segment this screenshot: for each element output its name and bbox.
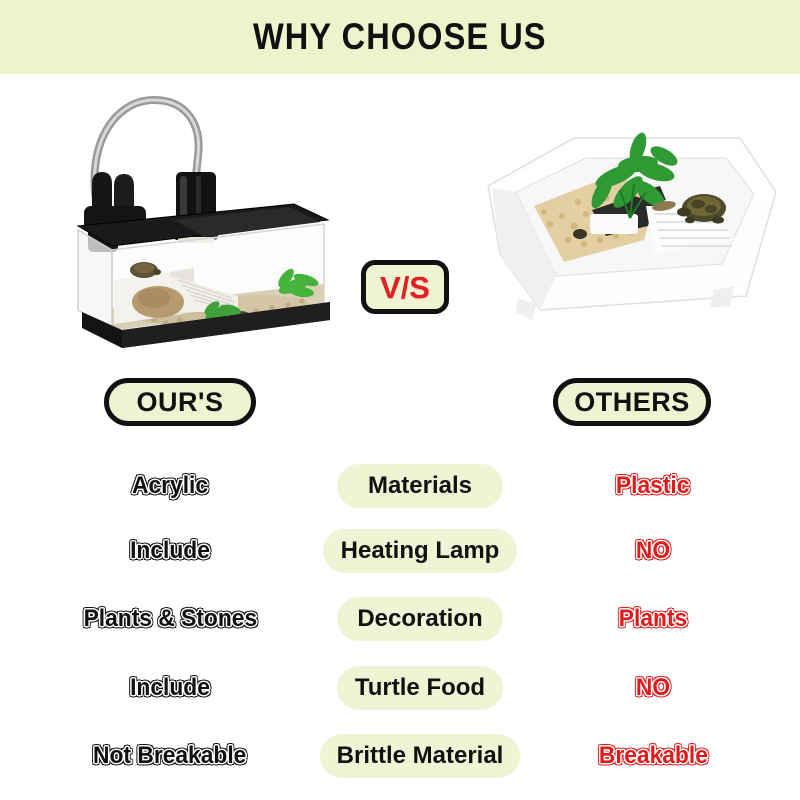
feature-pill: Decoration [337, 597, 503, 641]
ours-value: Not Breakable [93, 742, 246, 770]
ours-value: Plants & Stones [83, 605, 257, 633]
page-title: WHY CHOOSE US [253, 16, 547, 58]
others-value: NO [636, 674, 670, 702]
others-value: Plants [619, 605, 687, 633]
feature-pill: Heating Lamp [323, 529, 518, 573]
table-row: Include Heating Lamp NO [0, 523, 800, 579]
table-row: Include Turtle Food NO [0, 660, 800, 716]
cell-others: Breakable [528, 728, 778, 784]
feature-label: Heating Lamp [341, 537, 500, 565]
cell-feature: Brittle Material [320, 728, 520, 784]
cell-feature: Turtle Food [320, 660, 520, 716]
cell-feature: Decoration [320, 591, 520, 647]
cell-others: NO [528, 523, 778, 579]
column-header-others: OTHERS [553, 378, 711, 426]
versus-label: V/S [380, 272, 430, 303]
feature-pill: Materials [337, 464, 503, 508]
cell-others: Plastic [528, 458, 778, 514]
comparison-infographic: WHY CHOOSE US [0, 0, 800, 800]
feature-pill: Brittle Material [320, 734, 520, 778]
product-image-ours [62, 80, 342, 350]
others-value: Breakable [598, 742, 707, 770]
versus-badge: V/S [361, 260, 449, 314]
table-row: Acrylic Materials Plastic [0, 458, 800, 514]
feature-pill: Turtle Food [337, 666, 503, 710]
header-band: WHY CHOOSE US [0, 0, 800, 74]
feature-label: Brittle Material [337, 742, 504, 770]
column-header-ours-label: OUR'S [137, 387, 224, 418]
cell-others: Plants [528, 591, 778, 647]
product-comparison-images: V/S [0, 74, 800, 374]
ours-value: Acrylic [132, 472, 208, 500]
table-row: Not Breakable Brittle Material Breakable [0, 728, 800, 784]
feature-label: Decoration [357, 605, 482, 633]
product-image-others [478, 114, 786, 344]
ours-value: Include [130, 674, 210, 702]
table-row: Plants & Stones Decoration Plants [0, 591, 800, 647]
ours-value: Include [130, 537, 210, 565]
others-value: Plastic [616, 472, 690, 500]
cell-ours: Plants & Stones [20, 591, 320, 647]
feature-label: Materials [368, 472, 472, 500]
column-header-others-label: OTHERS [574, 387, 690, 418]
column-header-ours: OUR'S [104, 378, 256, 426]
cell-feature: Heating Lamp [320, 523, 520, 579]
cell-ours: Acrylic [20, 458, 320, 514]
comparison-table: Acrylic Materials Plastic Include Heatin… [0, 448, 800, 784]
others-value: NO [636, 537, 670, 565]
cell-ours: Include [20, 660, 320, 716]
cell-feature: Materials [320, 458, 520, 514]
cell-others: NO [528, 660, 778, 716]
cell-ours: Not Breakable [20, 728, 320, 784]
cell-ours: Include [20, 523, 320, 579]
feature-label: Turtle Food [355, 674, 485, 702]
